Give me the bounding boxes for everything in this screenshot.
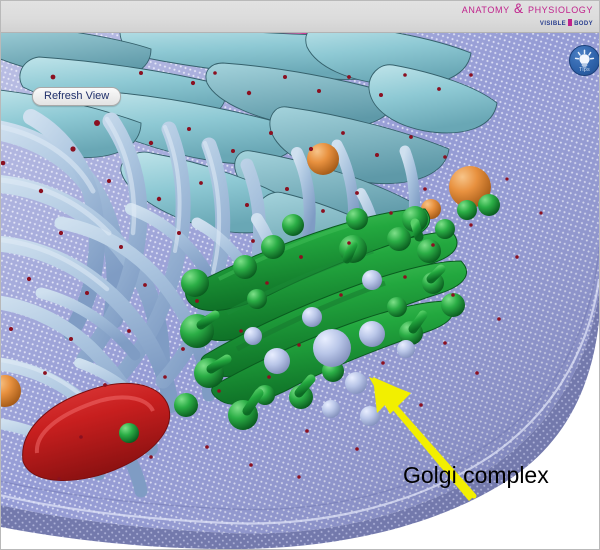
brand-separator-mark: [568, 19, 572, 26]
brand-subtitle-right: Body: [574, 17, 593, 27]
brand-logo: Anatomy & Physiology VisibleBody: [462, 2, 593, 26]
visible-body-viewer: Anatomy & Physiology VisibleBody Refresh…: [0, 0, 600, 550]
brand-subtitle: VisibleBody: [462, 18, 593, 27]
brand-title: Anatomy & Physiology: [462, 2, 593, 16]
golgi-complex-label: Golgi complex: [403, 462, 549, 489]
tips-button[interactable]: Tips: [569, 45, 600, 76]
refresh-view-button[interactable]: Refresh View: [32, 87, 121, 106]
tips-button-label: Tips: [570, 67, 599, 73]
brand-subtitle-left: Visible: [540, 17, 566, 27]
app-header: Anatomy & Physiology VisibleBody: [1, 1, 600, 33]
